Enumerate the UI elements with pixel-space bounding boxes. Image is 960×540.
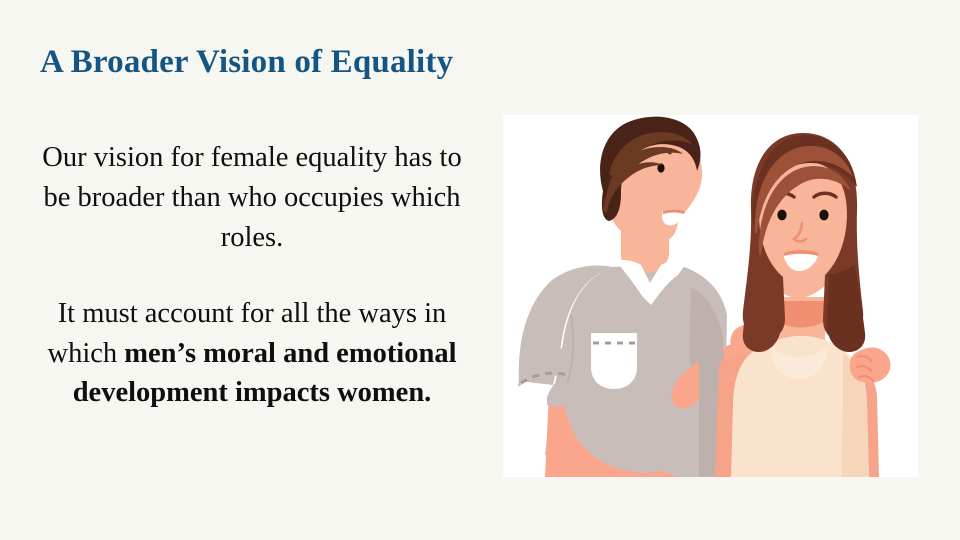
woman-eye-right [819,210,828,221]
body-paragraph-2-emphasis: men’s moral and emotional development im… [73,338,457,409]
body-text-column: Our vision for female equality has to be… [28,138,476,413]
body-paragraph-2: It must account for all the ways in whic… [28,294,476,414]
page-title: A Broader Vision of Equality [40,44,453,81]
slide-canvas: A Broader Vision of Equality Our vision … [0,0,960,540]
man-shirt-pocket [591,333,637,389]
woman-eye-left [777,210,786,221]
couple-illustration [503,115,918,477]
body-paragraph-1: Our vision for female equality has to be… [28,138,476,258]
illustration-panel [503,115,918,477]
